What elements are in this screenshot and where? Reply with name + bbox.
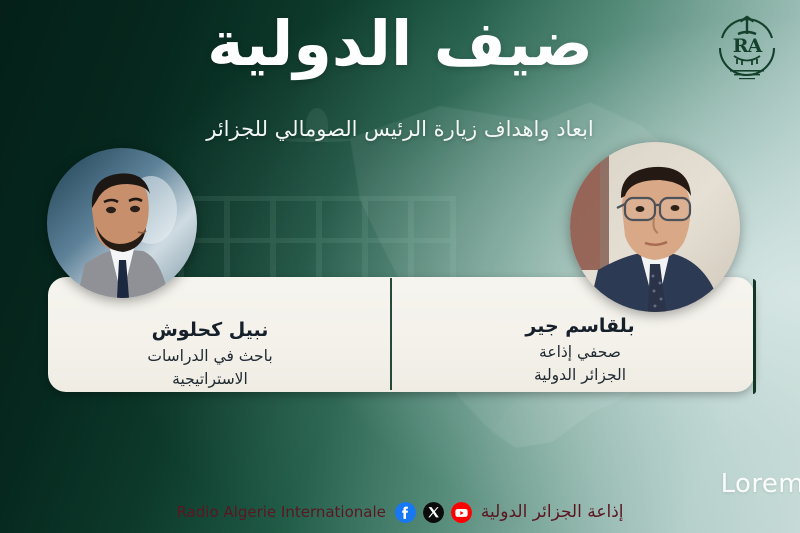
x-twitter-icon[interactable]: [423, 502, 444, 523]
guest-role-left-line1: باحث في الدراسات: [60, 346, 360, 366]
guest-role-right-line1: صحفي إذاعة: [430, 342, 730, 362]
guest-name-left: نبيل كحلوش: [60, 318, 360, 343]
plate-divider: [390, 278, 392, 390]
page-subtitle: ابعاد واهداف زيارة الرئيس الصومالي للجزا…: [0, 117, 800, 141]
guest-photo-right: [570, 142, 740, 312]
footer-bar: Radio Algerie Internationale إذاعة الجزا…: [0, 491, 800, 533]
page-title: ضيف الدولية: [0, 9, 800, 80]
footer-brand-arabic: إذاعة الجزائر الدولية: [481, 502, 624, 522]
guest-info-left: نبيل كحلوش باحث في الدراسات الاستراتيجية: [60, 318, 360, 390]
facebook-icon[interactable]: [395, 502, 416, 523]
youtube-icon[interactable]: [451, 502, 472, 523]
guest-role-left-line2: الاستراتيجية: [60, 369, 360, 389]
social-links: [395, 502, 472, 523]
guest-photo-left: [47, 148, 197, 298]
footer-brand-latin: Radio Algerie Internationale: [176, 503, 385, 521]
guest-name-right: بلقاسم جير: [430, 314, 730, 339]
guest-info-right: بلقاسم جير صحفي إذاعة الجزائر الدولية: [430, 314, 730, 386]
broadcast-graphic: RA ضيف الدولية ابعاد واهداف زيارة الرئيس…: [0, 0, 800, 533]
guest-role-right-line2: الجزائر الدولية: [430, 365, 730, 385]
